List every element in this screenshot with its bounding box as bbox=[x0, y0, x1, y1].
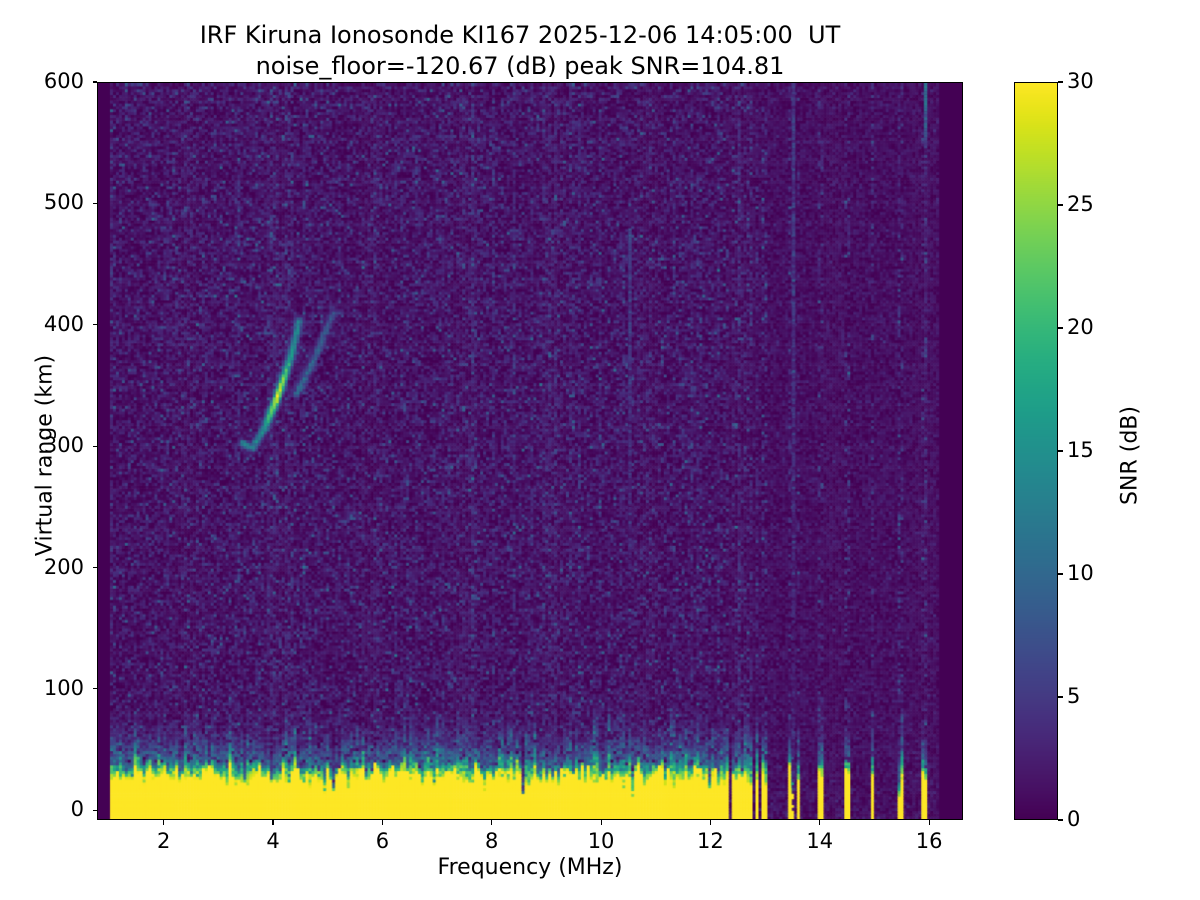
x-tick-label: 16 bbox=[889, 831, 969, 852]
x-tick-label: 6 bbox=[342, 831, 422, 852]
y-tick-mark bbox=[93, 810, 98, 811]
y-tick-mark bbox=[93, 81, 98, 82]
title-line-2: noise_floor=-120.67 (dB) peak SNR=104.81 bbox=[0, 51, 1040, 82]
page-title: IRF Kiruna Ionosonde KI167 2025-12-06 14… bbox=[0, 20, 1040, 82]
colorbar[interactable] bbox=[1014, 82, 1058, 820]
colorbar-tick-mark bbox=[1058, 327, 1063, 328]
y-tick-mark bbox=[93, 567, 98, 568]
colorbar-tick-mark bbox=[1058, 450, 1063, 451]
x-tick-mark bbox=[491, 820, 492, 825]
colorbar-label: SNR (dB) bbox=[1118, 306, 1143, 606]
x-axis-label: Frequency (MHz) bbox=[97, 855, 963, 880]
colorbar-tick-mark bbox=[1058, 573, 1063, 574]
y-tick-mark bbox=[93, 203, 98, 204]
colorbar-tick-label: 30 bbox=[1067, 71, 1094, 92]
y-tick-label: 500 bbox=[0, 192, 84, 213]
x-tick-mark bbox=[163, 820, 164, 825]
colorbar-tick-label: 0 bbox=[1067, 809, 1080, 830]
title-line-1: IRF Kiruna Ionosonde KI167 2025-12-06 14… bbox=[0, 20, 1040, 51]
x-tick-label: 12 bbox=[670, 831, 750, 852]
x-tick-mark bbox=[382, 820, 383, 825]
x-tick-label: 2 bbox=[124, 831, 204, 852]
x-tick-label: 8 bbox=[452, 831, 532, 852]
ionogram-heatmap-canvas bbox=[98, 83, 962, 819]
colorbar-tick-label: 15 bbox=[1067, 440, 1094, 461]
colorbar-gradient bbox=[1015, 83, 1057, 819]
x-tick-label: 4 bbox=[233, 831, 313, 852]
ionogram-plot-area[interactable] bbox=[97, 82, 963, 820]
x-tick-mark bbox=[819, 820, 820, 825]
x-tick-mark bbox=[710, 820, 711, 825]
colorbar-tick-mark bbox=[1058, 204, 1063, 205]
y-tick-label: 600 bbox=[0, 71, 84, 92]
y-tick-mark bbox=[93, 446, 98, 447]
y-axis-label: Virtual range (km) bbox=[33, 256, 58, 656]
colorbar-tick-mark bbox=[1058, 819, 1063, 820]
colorbar-tick-label: 25 bbox=[1067, 194, 1094, 215]
colorbar-tick-mark bbox=[1058, 696, 1063, 697]
y-tick-label: 0 bbox=[0, 799, 84, 820]
x-tick-label: 10 bbox=[561, 831, 641, 852]
x-tick-mark bbox=[601, 820, 602, 825]
y-tick-label: 100 bbox=[0, 678, 84, 699]
colorbar-tick-mark bbox=[1058, 81, 1063, 82]
x-tick-label: 14 bbox=[780, 831, 860, 852]
colorbar-tick-label: 10 bbox=[1067, 563, 1094, 584]
x-tick-mark bbox=[929, 820, 930, 825]
y-tick-mark bbox=[93, 324, 98, 325]
ionogram-figure: IRF Kiruna Ionosonde KI167 2025-12-06 14… bbox=[0, 0, 1200, 900]
colorbar-tick-label: 20 bbox=[1067, 317, 1094, 338]
colorbar-tick-label: 5 bbox=[1067, 686, 1080, 707]
x-tick-mark bbox=[272, 820, 273, 825]
y-tick-mark bbox=[93, 688, 98, 689]
